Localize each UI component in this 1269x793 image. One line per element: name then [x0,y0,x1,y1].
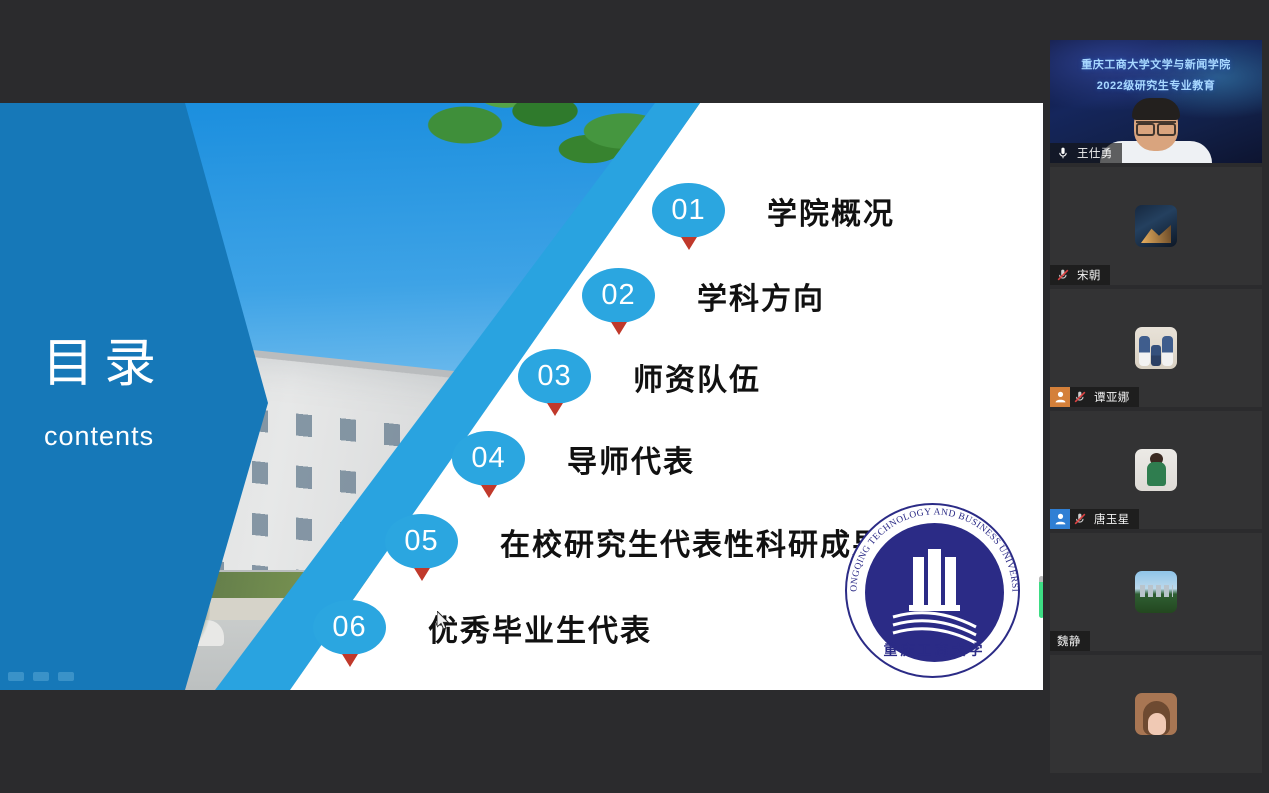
agenda-label: 学科方向 [697,274,825,318]
agenda-number: 01 [671,194,705,227]
avatar [1135,571,1177,613]
microphone-muted-icon [1070,513,1090,525]
agenda-number: 06 [332,611,366,644]
microphone-muted-icon [1053,269,1073,281]
agenda-number: 02 [601,279,635,312]
participant-name: 唐玉星 [1094,511,1130,527]
participant-name: 宋朝 [1077,267,1101,283]
participant-tile-song-chao[interactable]: 宋朝 [1050,167,1262,285]
agenda-label: 优秀毕业生代表 [428,606,652,650]
participant-name: 魏静 [1057,633,1081,649]
agenda-number-badge: 03 [518,349,591,404]
avatar [1135,205,1177,247]
participant-tile-tang-yuxing[interactable]: 唐玉星 [1050,411,1262,529]
agenda-item-05: 05 在校研究生代表性科研成果 [385,514,884,569]
agenda-item-06: 06 优秀毕业生代表 [313,600,652,655]
avatar [1135,693,1177,735]
agenda-number-badge: 04 [452,431,525,486]
participant-name: 王仕勇 [1077,145,1113,161]
zoom-meeting-window: 目录 contents 01 学院概况 02 学科方向 03 师资队伍 [0,0,1269,793]
cohost-badge-icon [1050,387,1070,407]
agenda-item-03: 03 师资队伍 [518,349,761,404]
participant-tile-partial[interactable] [1050,655,1262,773]
participant-tile-tan-yana[interactable]: 谭亚娜 [1050,289,1262,407]
avatar [1135,327,1177,369]
agenda-label: 学院概况 [767,189,895,233]
participants-sidebar[interactable]: 重庆工商大学文学与新闻学院 2022级研究生专业教育 王仕 [1043,0,1269,793]
agenda-number: 05 [404,525,438,558]
agenda-number-badge: 06 [313,600,386,655]
university-logo: CHONGQING TECHNOLOGY AND BUSINESS UNIVER… [845,503,1020,678]
participant-name: 谭亚娜 [1094,389,1130,405]
mouse-cursor [437,611,451,631]
avatar [1135,449,1177,491]
microphone-muted-icon [1070,391,1090,403]
shared-screen-stage[interactable]: 目录 contents 01 学院概况 02 学科方向 03 师资队伍 [0,0,1043,770]
seal-name-cn: 重庆工商大学 [847,640,1022,660]
video-title-line1: 重庆工商大学文学与新闻学院 [1050,56,1262,72]
microphone-icon [1053,147,1073,159]
agenda-label: 导师代表 [567,437,695,481]
agenda-number: 04 [471,442,505,475]
participant-tile-wang-shiyong[interactable]: 重庆工商大学文学与新闻学院 2022级研究生专业教育 王仕 [1050,40,1262,163]
agenda-number-badge: 05 [385,514,458,569]
video-title-line2: 2022级研究生专业教育 [1050,77,1262,93]
agenda-item-02: 02 学科方向 [582,268,825,323]
host-badge-icon [1050,509,1070,529]
agenda-item-04: 04 导师代表 [452,431,695,486]
agenda-number: 03 [537,360,571,393]
participant-namebar: 唐玉星 [1050,509,1139,529]
participant-tile-wei-jing[interactable]: 魏静 [1050,533,1262,651]
participant-namebar: 宋朝 [1050,265,1110,285]
agenda-number-badge: 01 [652,183,725,238]
agenda-number-badge: 02 [582,268,655,323]
participant-namebar: 魏静 [1050,631,1090,651]
agenda-label: 师资队伍 [633,355,761,399]
participant-namebar: 谭亚娜 [1050,387,1139,407]
participant-namebar: 王仕勇 [1050,143,1122,163]
agenda-label: 在校研究生代表性科研成果 [500,520,884,564]
presentation-slide[interactable]: 目录 contents 01 学院概况 02 学科方向 03 师资队伍 [0,103,1043,690]
agenda-item-01: 01 学院概况 [652,183,895,238]
